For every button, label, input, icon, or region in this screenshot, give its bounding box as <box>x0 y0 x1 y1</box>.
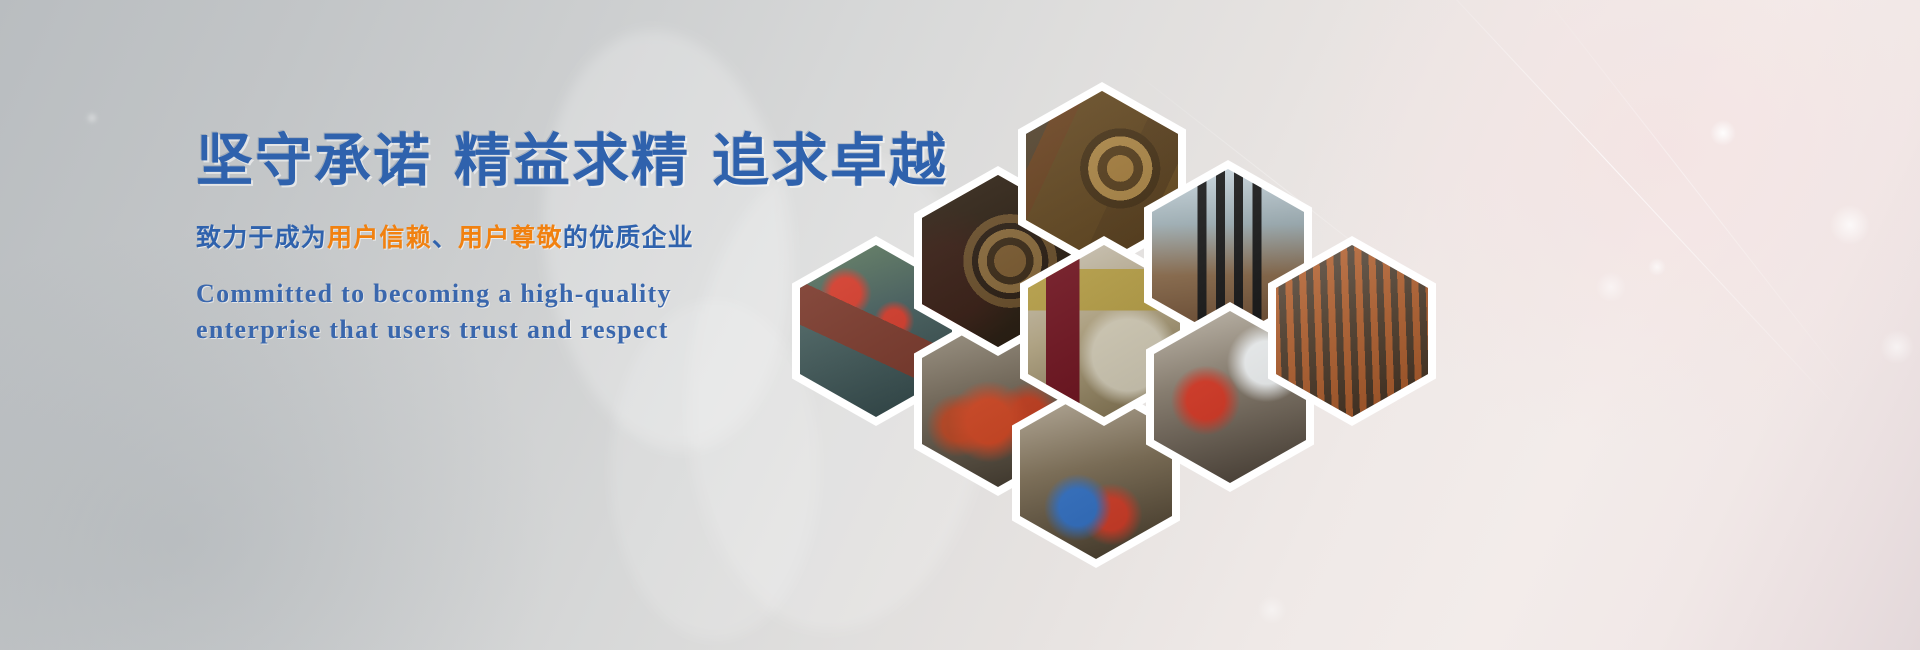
bokeh-dot-1 <box>1710 120 1736 146</box>
light-streak-1 <box>1420 0 1844 414</box>
bokeh-dot-5 <box>1880 330 1914 364</box>
stator-winding-photo <box>1276 245 1428 417</box>
subtitle-tail: 的优质企业 <box>563 224 694 252</box>
bokeh-dot-2 <box>1830 205 1870 245</box>
subtitle-highlight-1: 用户信赖 <box>327 224 432 252</box>
bokeh-dot-7 <box>1258 596 1286 624</box>
headline-part-1: 坚守承诺 <box>196 129 432 193</box>
subtitle-lead: 致力于成为 <box>196 224 327 252</box>
bokeh-dot-4 <box>1596 272 1626 302</box>
headline-part-2: 精益求精 <box>454 129 690 193</box>
hexagon-photo-collage <box>770 40 1430 550</box>
subtitle-separator: 、 <box>432 224 458 252</box>
bokeh-dot-3 <box>1648 258 1666 276</box>
hero-banner: 坚守承诺精益求精追求卓越 致力于成为用户信赖、用户尊敬的优质企业 Committ… <box>0 0 1920 650</box>
bokeh-dot-8 <box>86 112 98 124</box>
light-streak-2 <box>1540 0 1861 401</box>
subtitle-highlight-2: 用户尊敬 <box>458 224 563 252</box>
